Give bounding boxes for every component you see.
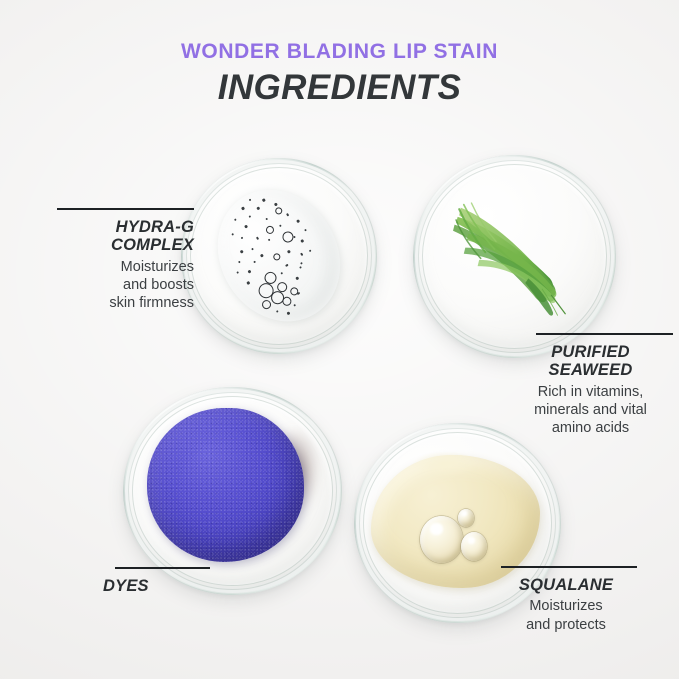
callout-dyes: DYES <box>103 567 253 595</box>
leader-line <box>57 208 194 210</box>
sample-hydra-g-complex <box>191 168 367 344</box>
page-title-block: WONDER BLADING LIP STAIN INGREDIENTS <box>0 40 679 107</box>
seaweed-illustration <box>434 180 595 334</box>
callout-purified-seaweed: PURIFIED SEAWEED Rich in vitamins, miner… <box>508 333 673 438</box>
ingredient-description: Rich in vitamins, minerals and vital ami… <box>508 383 673 438</box>
ingredient-name-line1: SQUALANE <box>481 576 651 594</box>
page-title: INGREDIENTS <box>0 70 679 107</box>
callout-hydra-g-complex: HYDRA-G COMPLEX Moisturizes and boosts s… <box>34 208 194 313</box>
ingredient-name: HYDRA-G COMPLEX <box>34 218 194 255</box>
description-line3: amino acids <box>508 419 673 437</box>
ingredient-description: Moisturizes and protects <box>481 597 651 634</box>
oil-droplet-small <box>458 509 475 527</box>
ingredient-name-line1: DYES <box>103 577 253 595</box>
description-line1: Rich in vitamins, <box>508 383 673 401</box>
ingredient-description: Moisturizes and boosts skin firmness <box>34 258 194 313</box>
ingredient-name: SQUALANE <box>481 576 651 594</box>
ingredient-name-line2: COMPLEX <box>34 236 194 254</box>
description-line1: Moisturizes <box>34 258 194 276</box>
ingredient-name-line2: SEAWEED <box>508 361 673 379</box>
sample-dyes <box>133 397 332 585</box>
ingredient-name-line1: PURIFIED <box>508 343 673 361</box>
oil-droplet-large <box>420 516 463 563</box>
blue-dye-powder <box>147 408 304 562</box>
description-line2: and protects <box>481 616 651 634</box>
ingredient-name-line1: HYDRA-G <box>34 218 194 236</box>
ingredient-name: DYES <box>103 577 253 595</box>
powder-grain-texture <box>147 408 304 562</box>
sample-purified-seaweed <box>423 165 606 348</box>
oil-highlight <box>402 447 490 482</box>
description-line3: skin firmness <box>34 294 194 312</box>
gel-blob <box>193 168 364 344</box>
petri-dish-dyes <box>123 387 342 595</box>
petri-dish-purified-seaweed <box>413 155 616 358</box>
leader-line <box>536 333 673 335</box>
description-line1: Moisturizes <box>481 597 651 615</box>
description-line2: and boosts <box>34 276 194 294</box>
leader-line <box>115 567 210 569</box>
oil-droplet-medium <box>461 532 487 561</box>
bubble-cluster <box>193 168 364 344</box>
description-line2: minerals and vital <box>508 401 673 419</box>
leader-line <box>501 566 637 568</box>
petri-dish-hydra-g-complex <box>181 158 377 354</box>
callout-squalane: SQUALANE Moisturizes and protects <box>481 566 651 634</box>
ingredient-name: PURIFIED SEAWEED <box>508 343 673 380</box>
product-name-eyebrow: WONDER BLADING LIP STAIN <box>0 40 679 63</box>
ingredients-infographic: WONDER BLADING LIP STAIN INGREDIENTS <box>0 0 679 679</box>
